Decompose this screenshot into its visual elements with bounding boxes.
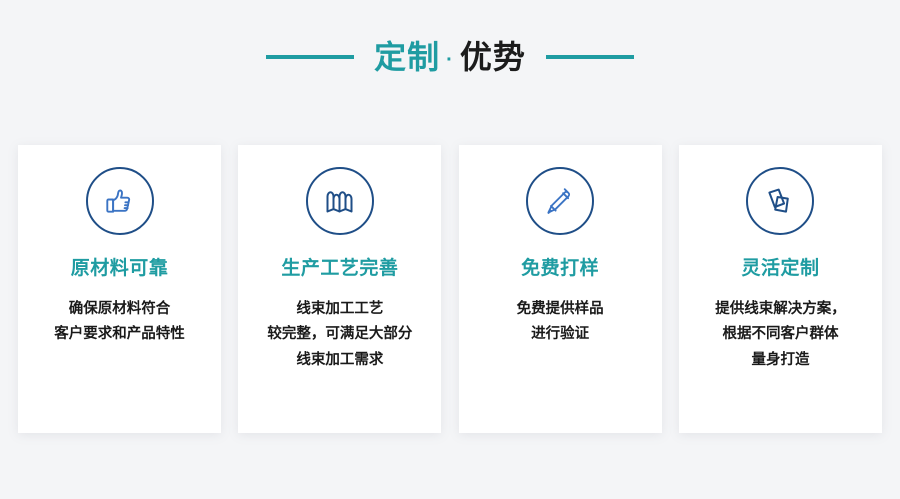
page-title: 定制 · 优势 [374,41,526,73]
feature-card-title: 生产工艺完善 [281,258,398,281]
feature-card-raw-material[interactable]: 原材料可靠 确保原材料符合 客户要求和产品特性 [18,145,221,433]
desc-line: 根据不同客户群体 [715,322,846,347]
desc-line: 量身打造 [715,348,846,373]
title-separator-dot: · [446,50,454,70]
title-rule-left [266,55,354,59]
desc-line: 进行验证 [517,322,604,347]
feature-card-description: 免费提供样品 进行验证 [509,297,612,348]
feature-card-flexible-custom[interactable]: 灵活定制 提供线束解决方案， 根据不同客户群体 量身打造 [679,145,882,433]
desc-line: 确保原材料符合 [54,297,185,322]
desc-line: 客户要求和产品特性 [54,322,185,347]
feature-card-list: 原材料可靠 确保原材料符合 客户要求和产品特性 生产工艺完善 线束加工工艺 较完… [18,145,882,435]
desc-line: 线束加工需求 [267,348,412,373]
feature-card-free-sample[interactable]: 免费打样 免费提供样品 进行验证 [459,145,662,433]
title-rule-right [546,55,634,59]
feature-card-production-process[interactable]: 生产工艺完善 线束加工工艺 较完整，可满足大部分 线束加工需求 [238,145,441,433]
stacked-cards-icon [746,167,814,235]
title-main-word: 优势 [460,41,526,73]
section-title: 定制 · 优势 [0,28,900,86]
feature-card-description: 确保原材料符合 客户要求和产品特性 [46,297,193,348]
feature-card-title: 免费打样 [521,258,599,281]
desc-line: 线束加工工艺 [267,297,412,322]
desc-line: 较完整，可满足大部分 [267,322,412,347]
feature-card-title: 原材料可靠 [71,258,169,281]
feature-card-description: 提供线束解决方案， 根据不同客户群体 量身打造 [707,297,854,373]
folded-map-icon [306,167,374,235]
title-accent-word: 定制 [374,41,440,73]
pencil-icon [526,167,594,235]
feature-card-title: 灵活定制 [741,258,819,281]
desc-line: 免费提供样品 [517,297,604,322]
feature-card-description: 线束加工工艺 较完整，可满足大部分 线束加工需求 [259,297,420,373]
desc-line: 提供线束解决方案， [715,297,846,322]
thumbs-up-icon [86,167,154,235]
